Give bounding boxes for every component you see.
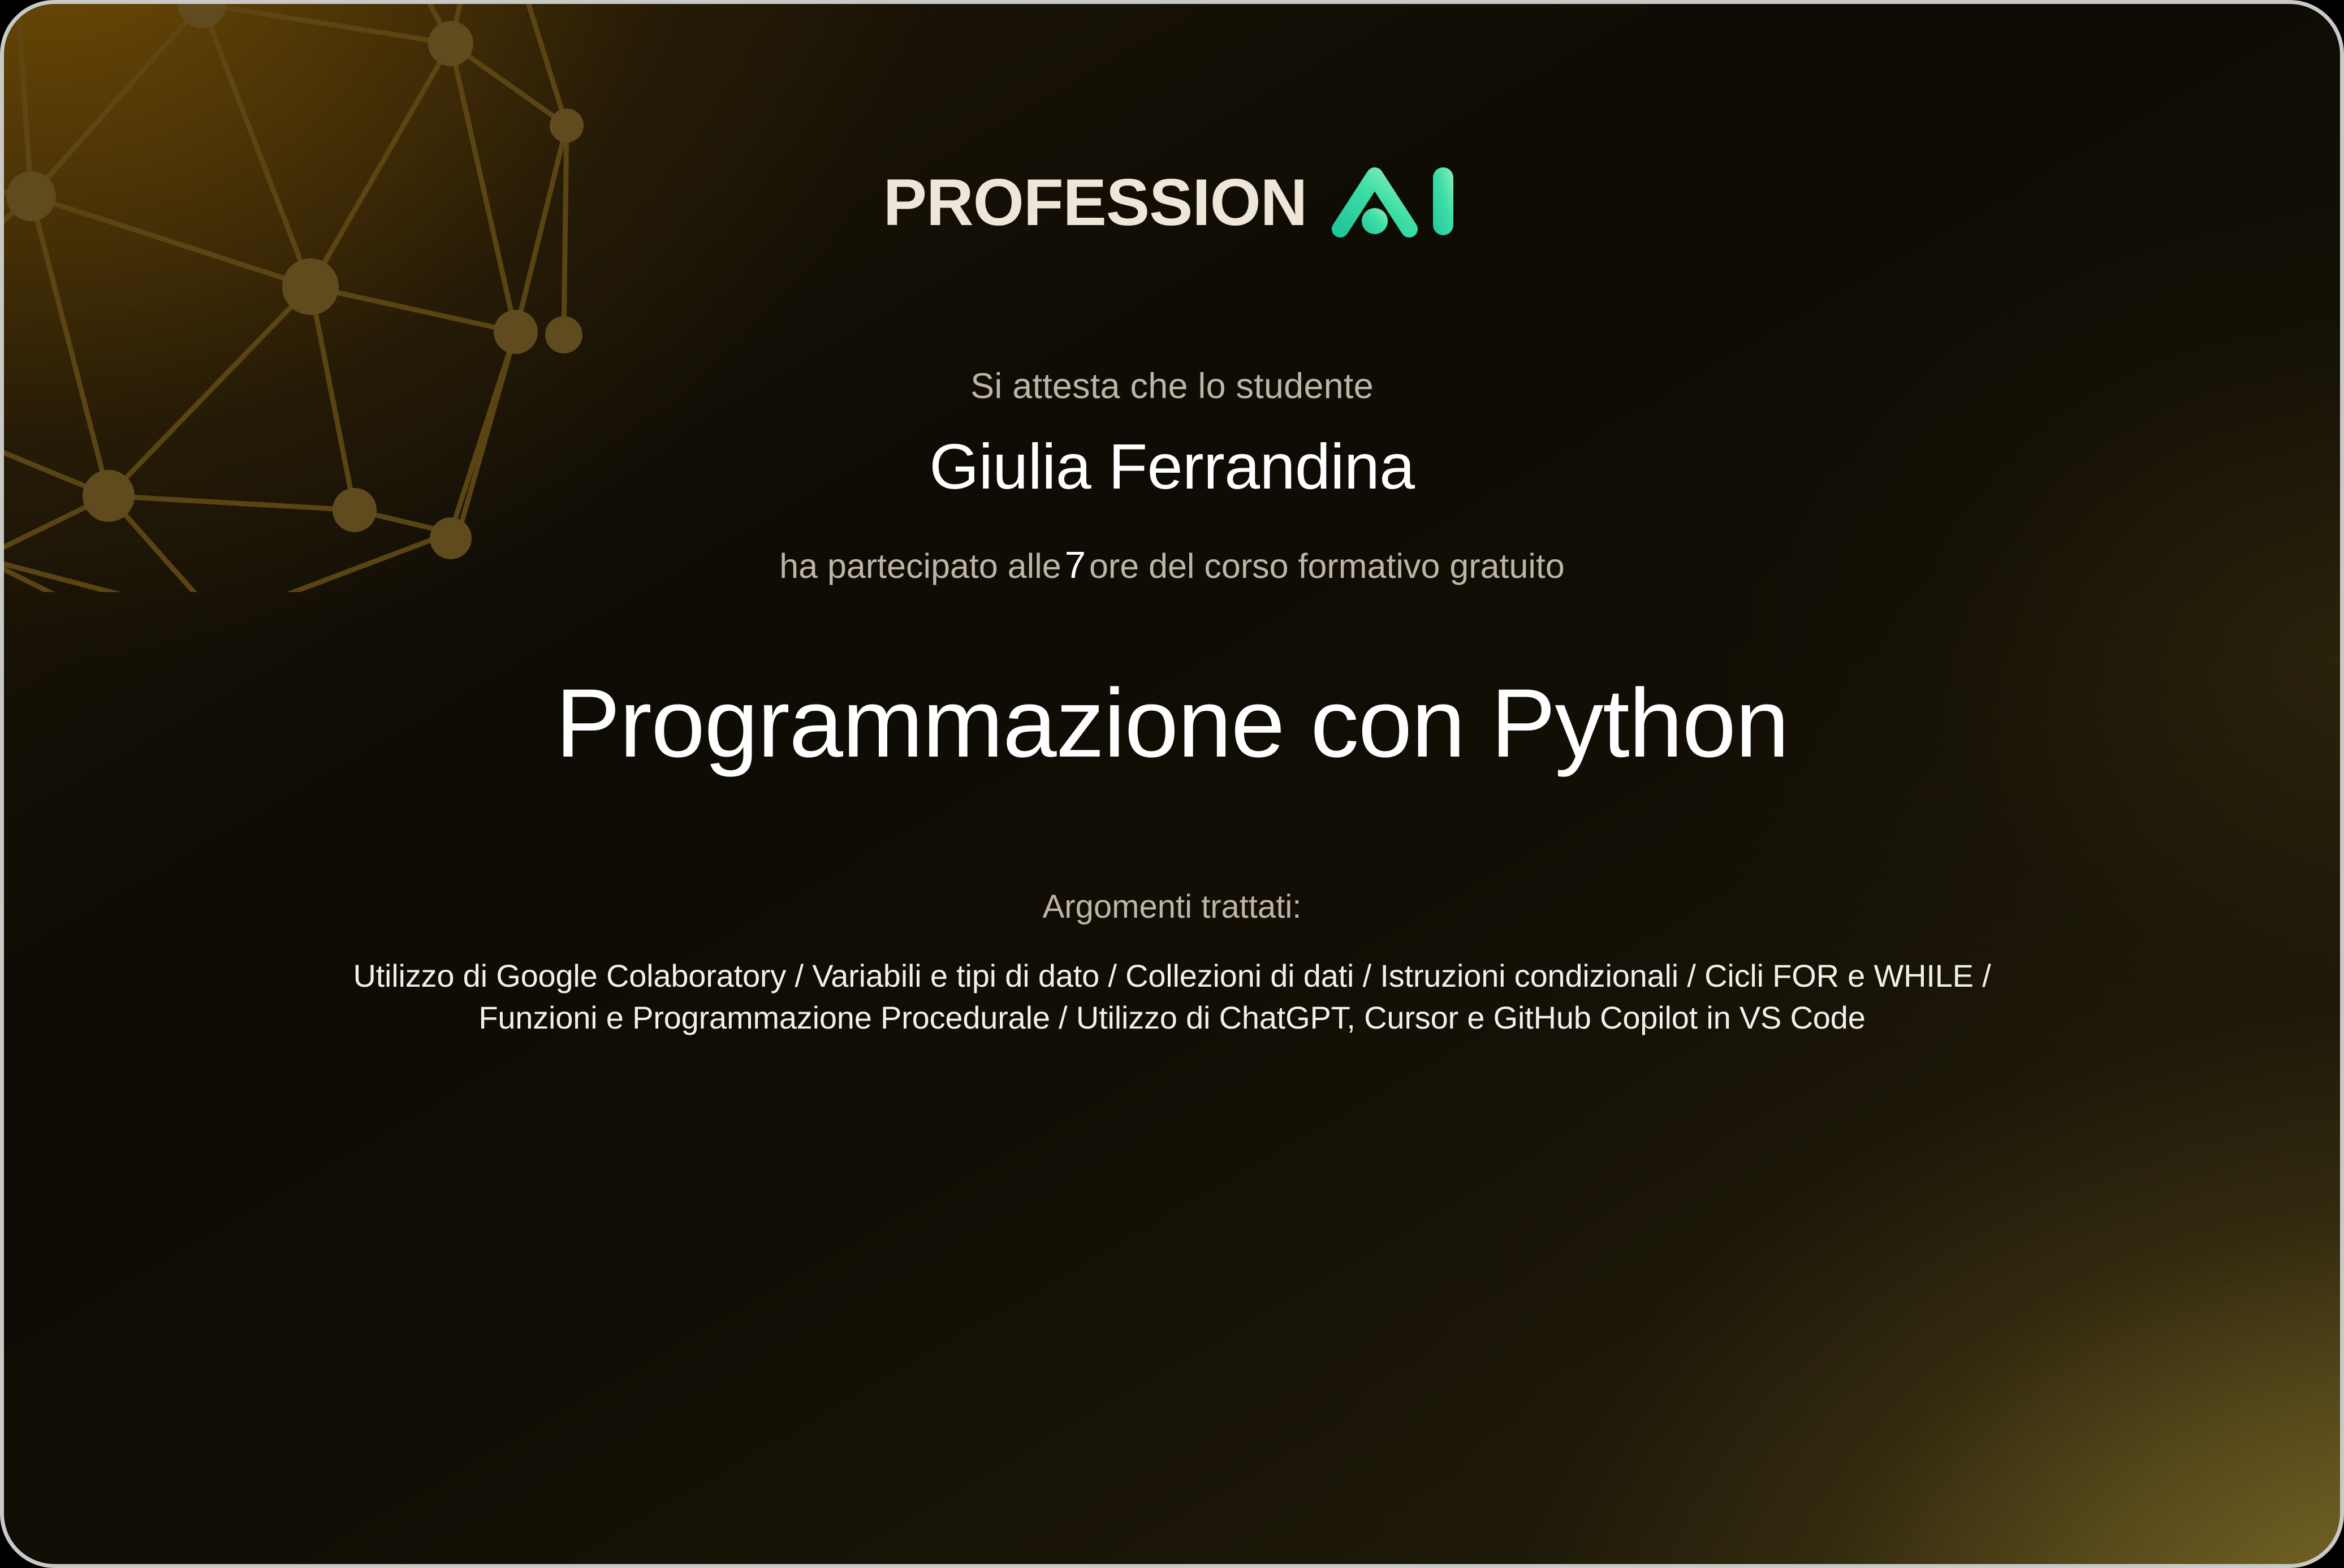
logo-ai-mark <box>1330 166 1463 238</box>
attestation-text: Si attesta che lo studente <box>970 369 1374 404</box>
topics-list: Utilizzo di Google Colaboratory / Variab… <box>166 955 2179 1039</box>
logo-i-bar-icon <box>1433 167 1453 235</box>
hours-value: 7 <box>1061 546 1089 584</box>
professionai-logo: PROFESSION <box>881 166 1462 238</box>
certificate-card: PROFESSION Si attesta che lo studente <box>0 0 2344 1568</box>
logo-wordmark: PROFESSION <box>883 169 1307 235</box>
student-name: Giulia Ferrandina <box>929 431 1414 502</box>
topics-label: Argomenti trattati: <box>1043 891 1302 923</box>
topic-line: Utilizzo di Google Colaboratory / Variab… <box>166 955 2179 997</box>
hours-suffix: ore del corso formativo gratuito <box>1089 549 1565 584</box>
logo-a-dot-icon <box>1362 208 1388 234</box>
course-title: Programmazione con Python <box>555 672 1789 775</box>
hours-prefix: ha partecipato alle <box>779 549 1061 584</box>
hours-line: ha partecipato alle 7 ore del corso form… <box>779 546 1565 584</box>
topic-line: Funzioni e Programmazione Procedurale / … <box>166 997 2179 1039</box>
certificate-content: PROFESSION Si attesta che lo studente <box>4 4 2340 1564</box>
